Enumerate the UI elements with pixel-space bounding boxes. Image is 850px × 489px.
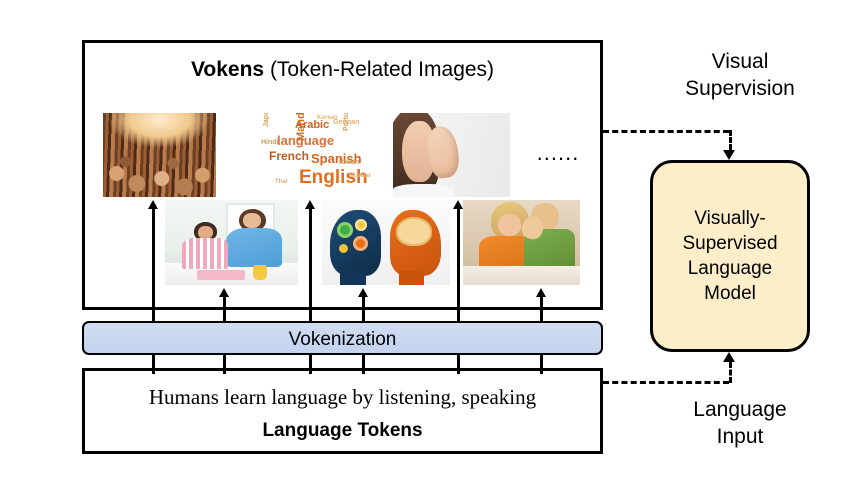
visual-supervision-label-line-1: Supervision: [640, 75, 840, 102]
language-input-label-line-0: Language: [640, 396, 840, 423]
visual-supervision-label-line-0: Visual: [640, 48, 840, 75]
figure-canvas: Vokens (Token-Related Images) Arabic lan…: [0, 0, 850, 489]
token-to-voken-arrow-head-3: [305, 200, 315, 209]
visual-supervision-dashed-horizontal: [603, 130, 729, 133]
wordcloud-term-6: Japanese: [263, 113, 270, 127]
vokenization-label: Vokenization: [82, 329, 603, 351]
token-to-voken-arrow-head-5: [453, 200, 463, 209]
voken-thumbnail-language-word-cloud[interactable]: Arabic language French Spanish English M…: [255, 113, 371, 197]
language-word-cloud-image: Arabic language French Spanish English M…: [255, 113, 371, 197]
tutor-and-child-reading-image: [165, 200, 298, 285]
vokens-title-bold: Vokens: [191, 58, 264, 81]
vokens-title-rest: (Token-Related Images): [264, 58, 494, 81]
voken-thumbnail-tutor-and-child-reading[interactable]: [165, 200, 298, 285]
voken-thumbnail-two-brains-thinking[interactable]: [322, 200, 450, 285]
model-label-line-2: Language: [682, 256, 777, 281]
visual-supervision-label: Visual Supervision: [640, 48, 840, 102]
language-input-dashed-vertical: [729, 362, 732, 383]
wordcloud-term-13: Russian: [349, 173, 371, 179]
language-tokens-caption: Language Tokens: [82, 420, 603, 442]
model-label-line-1: Supervised: [682, 231, 777, 256]
token-to-voken-arrow-head-1: [148, 200, 158, 209]
token-to-voken-arrow-head-2: [219, 288, 229, 297]
language-input-arrow-head: [723, 352, 735, 362]
visually-supervised-language-model-box[interactable]: Visually- Supervised Language Model: [650, 160, 810, 352]
wordcloud-term-7: Hindi: [261, 139, 279, 146]
model-label: Visually- Supervised Language Model: [682, 206, 777, 306]
token-to-voken-arrow-head-4: [358, 288, 368, 297]
visual-supervision-dashed-vertical: [729, 130, 732, 150]
crowd-of-people-image: [103, 113, 216, 197]
woman-listening-image: [393, 113, 510, 197]
children-whispering-image: [463, 200, 580, 285]
model-label-line-3: Model: [682, 281, 777, 306]
wordcloud-term-5: Mandarin: [295, 113, 307, 141]
wordcloud-term-10: Italian: [339, 159, 359, 166]
language-tokens-sentence: Humans learn language by listening, spea…: [82, 385, 603, 410]
language-input-label-line-1: Input: [640, 423, 840, 450]
vokens-panel-title: Vokens (Token-Related Images): [82, 58, 603, 82]
wordcloud-term-2: French: [269, 149, 309, 163]
voken-thumbnail-woman-listening[interactable]: [393, 113, 510, 197]
wordcloud-term-12: Thai: [275, 179, 287, 185]
wordcloud-term-11: Korean: [317, 115, 338, 121]
token-to-voken-arrow-head-6: [536, 288, 546, 297]
model-label-line-0: Visually-: [682, 206, 777, 231]
visual-supervision-arrow-head: [723, 150, 735, 160]
language-input-dashed-horizontal: [603, 381, 729, 384]
vokens-ellipsis: ......: [528, 140, 588, 166]
voken-thumbnail-crowd-of-people[interactable]: [103, 113, 216, 197]
voken-thumbnail-children-whispering[interactable]: [463, 200, 580, 285]
two-brains-thinking-image: [322, 200, 450, 285]
language-input-label: Language Input: [640, 396, 840, 450]
